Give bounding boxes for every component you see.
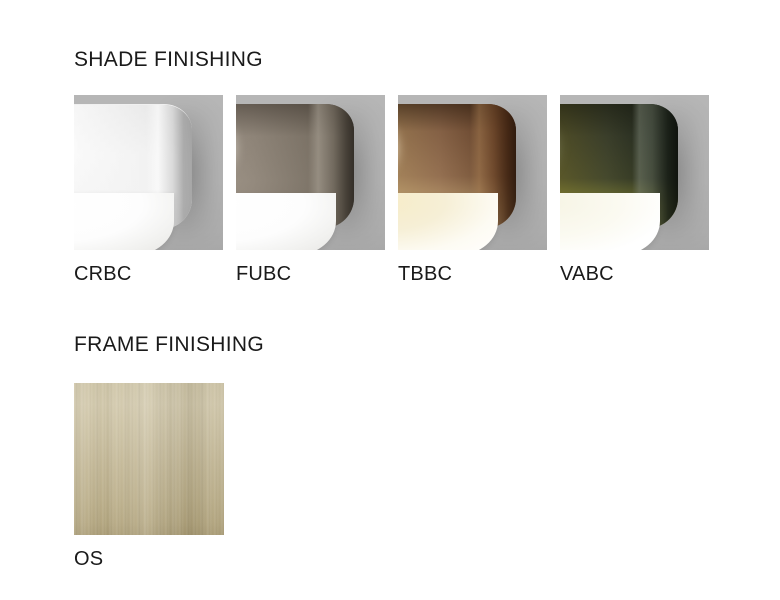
swatch-cell-tbbc[interactable]: TBBC bbox=[398, 95, 547, 286]
shade-swatch-image-vabc[interactable] bbox=[560, 95, 709, 250]
shade-swatch-label-tbbc: TBBC bbox=[398, 262, 547, 286]
opal-diffuser-disc bbox=[560, 193, 660, 250]
metal-sheen-overlay bbox=[74, 383, 224, 535]
swatch-cell-os[interactable]: OS bbox=[74, 383, 224, 571]
shade-swatch-label-vabc: VABC bbox=[560, 262, 709, 286]
product-finishing-page: SHADE FINISHING CRBC bbox=[0, 0, 780, 600]
swatch-cell-crbc[interactable]: CRBC bbox=[74, 95, 223, 286]
opal-diffuser-disc bbox=[74, 193, 174, 250]
swatch-cell-vabc[interactable]: VABC bbox=[560, 95, 709, 286]
shade-swatch-image-fubc[interactable] bbox=[236, 95, 385, 250]
opal-diffuser-disc bbox=[236, 193, 336, 250]
shade-swatch-row: CRBC FUBC bbox=[74, 95, 709, 286]
frame-swatch-image-os[interactable] bbox=[74, 383, 224, 535]
shade-swatch-image-tbbc[interactable] bbox=[398, 95, 547, 250]
shade-swatch-image-crbc[interactable] bbox=[74, 95, 223, 250]
shade-finishing-heading: SHADE FINISHING bbox=[74, 48, 263, 72]
shade-swatch-label-crbc: CRBC bbox=[74, 262, 223, 286]
opal-diffuser-disc bbox=[398, 193, 498, 250]
frame-swatch-label-os: OS bbox=[74, 547, 224, 571]
shade-swatch-label-fubc: FUBC bbox=[236, 262, 385, 286]
swatch-cell-fubc[interactable]: FUBC bbox=[236, 95, 385, 286]
frame-finishing-heading: FRAME FINISHING bbox=[74, 333, 264, 357]
